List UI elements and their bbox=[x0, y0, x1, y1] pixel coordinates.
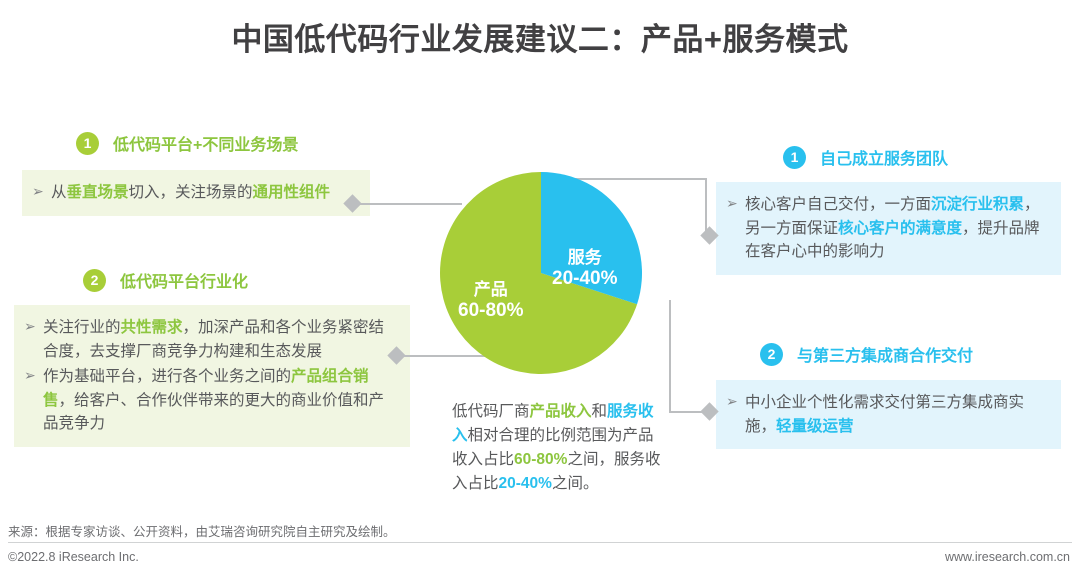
right-section-1-title: 自己成立服务团队 bbox=[820, 145, 948, 169]
left-section-1-heading: 1 低代码平台+不同业务场景 bbox=[76, 131, 298, 155]
left-section-1-box: ➢ 从垂直场景切入，关注场景的通用性组件 bbox=[22, 170, 370, 216]
pie-label-product: 产品 60-80% bbox=[458, 280, 524, 321]
list-item: ➢ 中小企业个性化需求交付第三方集成商实施，轻量级运营 bbox=[726, 391, 1049, 438]
badge-number-left-2: 2 bbox=[83, 269, 106, 292]
footer-divider bbox=[8, 542, 1072, 543]
left-section-1-title: 低代码平台+不同业务场景 bbox=[113, 131, 298, 155]
connector-line-right-2-vertical bbox=[669, 300, 671, 413]
list-item: ➢ 从垂直场景切入，关注场景的通用性组件 bbox=[32, 181, 358, 205]
left-section-2-bullet-1-text: 关注行业的共性需求，加深产品和各个业务紧密结合度，去支撑厂商竞争力构建和生态发展 bbox=[43, 319, 384, 360]
right-section-2-title: 与第三方集成商合作交付 bbox=[797, 342, 973, 366]
bullet-arrow-icon: ➢ bbox=[32, 181, 44, 202]
left-section-2-title: 低代码平台行业化 bbox=[120, 268, 248, 292]
website-url: www.iresearch.com.cn bbox=[945, 550, 1070, 564]
pie-caption: 低代码厂商产品收入和服务收入相对合理的比例范围为产品收入占比60-80%之间，服… bbox=[452, 400, 667, 496]
pie-label-product-name: 产品 bbox=[458, 280, 524, 300]
bullet-arrow-icon: ➢ bbox=[24, 316, 36, 337]
page-title: 中国低代码行业发展建议二：产品+服务模式 bbox=[0, 14, 1080, 59]
list-item: ➢ 关注行业的共性需求，加深产品和各个业务紧密结合度，去支撑厂商竞争力构建和生态… bbox=[24, 316, 398, 363]
right-section-2-bullet-1-text: 中小企业个性化需求交付第三方集成商实施，轻量级运营 bbox=[745, 394, 1024, 435]
badge-number-left-1: 1 bbox=[76, 132, 99, 155]
left-section-2-heading: 2 低代码平台行业化 bbox=[83, 268, 248, 292]
bullet-arrow-icon: ➢ bbox=[24, 365, 36, 386]
left-section-2-box: ➢ 关注行业的共性需求，加深产品和各个业务紧密结合度，去支撑厂商竞争力构建和生态… bbox=[14, 305, 410, 447]
list-item: ➢ 作为基础平台，进行各个业务之间的产品组合销售，给客户、合作伙伴带来的更大的商… bbox=[24, 365, 398, 436]
left-section-2-bullet-2-text: 作为基础平台，进行各个业务之间的产品组合销售，给客户、合作伙伴带来的更大的商业价… bbox=[43, 368, 384, 432]
badge-number-right-1: 1 bbox=[783, 146, 806, 169]
pie-label-product-value: 60-80% bbox=[458, 300, 524, 322]
source-note: 来源：根据专家访谈、公开资料，由艾瑞咨询研究院自主研究及绘制。 bbox=[8, 521, 396, 540]
pie-label-service-name: 服务 bbox=[552, 248, 618, 268]
right-section-1-bullet-1-text: 核心客户自己交付，一方面沉淀行业积累，另一方面保证核心客户的满意度，提升品牌在客… bbox=[745, 196, 1040, 260]
pie-label-service-value: 20-40% bbox=[552, 268, 618, 290]
pie-chart: 服务 20-40% 产品 60-80% bbox=[440, 172, 662, 374]
list-item: ➢ 核心客户自己交付，一方面沉淀行业积累，另一方面保证核心客户的满意度，提升品牌… bbox=[726, 193, 1049, 264]
bullet-arrow-icon: ➢ bbox=[726, 193, 738, 214]
right-section-1-heading: 1 自己成立服务团队 bbox=[783, 145, 948, 169]
badge-number-right-2: 2 bbox=[760, 343, 783, 366]
copyright-text: ©2022.8 iResearch Inc. bbox=[8, 550, 139, 564]
left-section-1-bullet-1-text: 从垂直场景切入，关注场景的通用性组件 bbox=[51, 184, 330, 201]
pie-caption-text: 低代码厂商产品收入和服务收入相对合理的比例范围为产品收入占比60-80%之间，服… bbox=[452, 403, 660, 492]
bullet-arrow-icon: ➢ bbox=[726, 391, 738, 412]
right-section-2-box: ➢ 中小企业个性化需求交付第三方集成商实施，轻量级运营 bbox=[716, 380, 1061, 449]
pie-label-service: 服务 20-40% bbox=[552, 248, 618, 289]
right-section-2-heading: 2 与第三方集成商合作交付 bbox=[760, 342, 973, 366]
right-section-1-box: ➢ 核心客户自己交付，一方面沉淀行业积累，另一方面保证核心客户的满意度，提升品牌… bbox=[716, 182, 1061, 275]
